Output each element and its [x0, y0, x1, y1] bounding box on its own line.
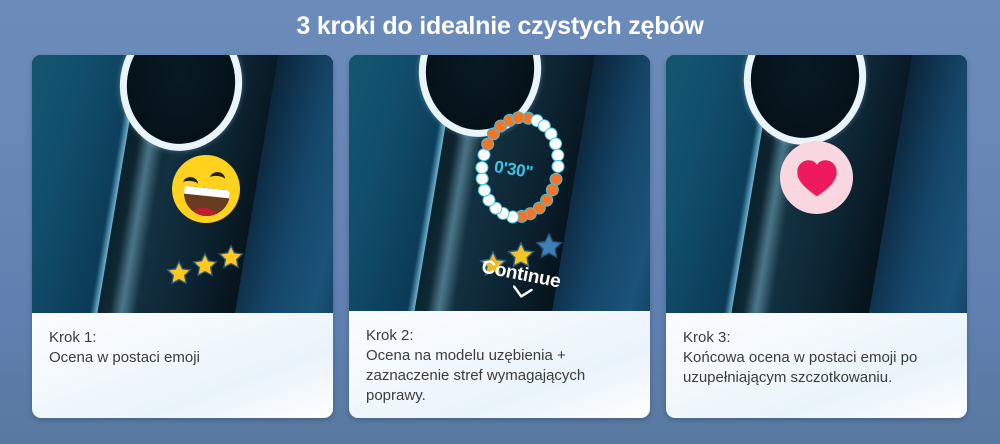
promo-panel: 3 kroki do idealnie czystych zębów [0, 0, 1000, 444]
laughing-face-icon [172, 155, 240, 223]
step-3-photo [666, 55, 967, 313]
emoji-eye-right [209, 171, 225, 185]
step-3-label: Krok 3: [683, 328, 950, 348]
step-3-caption: Krok 3: Końcowa ocena w postaci emoji po… [666, 313, 967, 418]
star-icon [218, 244, 244, 270]
step-2-description: Ocena na modelu uzębienia + zaznaczenie … [366, 346, 633, 406]
step-1-label: Krok 1: [49, 328, 316, 348]
step-2-photo: 0'30" Continue [349, 55, 650, 311]
step-card-3[interactable]: Krok 3: Końcowa ocena w postaci emoji po… [666, 55, 967, 418]
star-icon-empty [535, 232, 563, 260]
step-1-photo [32, 55, 333, 313]
step-2-caption: Krok 2: Ocena na modelu uzębienia + zazn… [349, 311, 650, 418]
tooth-dot-clean [474, 160, 489, 175]
emoji-tongue [191, 207, 218, 219]
step-1-caption: Krok 1: Ocena w postaci emoji [32, 313, 333, 418]
star-rating-3 [166, 241, 270, 285]
heart-icon [780, 141, 853, 214]
step-3-description: Końcowa ocena w postaci emoji po uzupełn… [683, 348, 950, 388]
step-2-label: Krok 2: [366, 326, 633, 346]
step-card-1[interactable]: Krok 1: Ocena w postaci emoji [32, 55, 333, 418]
steps-card-row: Krok 1: Ocena w postaci emoji 0'30" [32, 55, 968, 418]
emoji-mouth [182, 186, 231, 219]
step-1-description: Ocena w postaci emoji [49, 348, 316, 368]
star-icon [166, 260, 192, 286]
page-title: 3 kroki do idealnie czystych zębów [0, 9, 1000, 43]
step-card-2[interactable]: 0'30" Continue [349, 55, 650, 418]
star-icon [192, 252, 218, 278]
emoji-teeth [184, 186, 231, 199]
